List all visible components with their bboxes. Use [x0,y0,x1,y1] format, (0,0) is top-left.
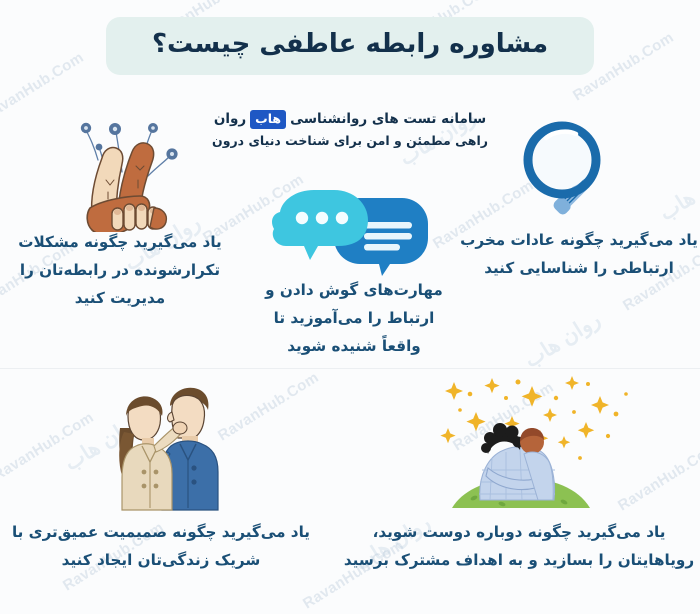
cell-text-toxic-habits: یاد می‌گیرید چگونه عادات مخرب ارتباطی را… [460,226,698,282]
brand-name: روان [214,111,246,129]
cell-text-deeper-intimacy: یاد می‌گیرید چگونه صمیمیت عمیق‌تری با شر… [2,518,320,574]
watermark-brand: روان هاب [520,307,605,373]
couple-hugging-stars-illustration [440,372,648,518]
watermark-brand: روان هاب [655,160,700,226]
couple-facing-illustration [108,382,282,514]
page-title: مشاوره رابطه عاطفی چیست؟ [152,30,548,60]
cell-text-shared-dreams: یاد می‌گیرید چگونه دوباره دوست شوید، روی… [340,518,698,574]
speech-bubbles-icon [268,186,436,278]
page-header: مشاوره رابطه عاطفی چیست؟ [0,0,700,92]
brand-line: سامانه تست های روانشناسی هاب روان [0,110,700,129]
row-divider [0,368,700,369]
cell-text-listening-skills: مهارت‌های گوش دادن و ارتباط را می‌آموزید… [252,276,456,360]
brand-tagline: سامانه تست های روانشناسی [290,111,486,129]
brand-block: سامانه تست های روانشناسی هاب روان راهی م… [0,110,700,148]
title-pill: مشاوره رابطه عاطفی چیست؟ [106,17,594,76]
cell-text-repeated-problems: یاد می‌گیرید چگونه مشکلات تکرارشونده در … [2,228,238,312]
brand-subtitle: راهی مطمئن و امن برای شناخت دنیای درون [0,133,700,148]
watermark-text: RavanHub.Com [0,409,97,485]
brand-badge: هاب [250,110,286,129]
